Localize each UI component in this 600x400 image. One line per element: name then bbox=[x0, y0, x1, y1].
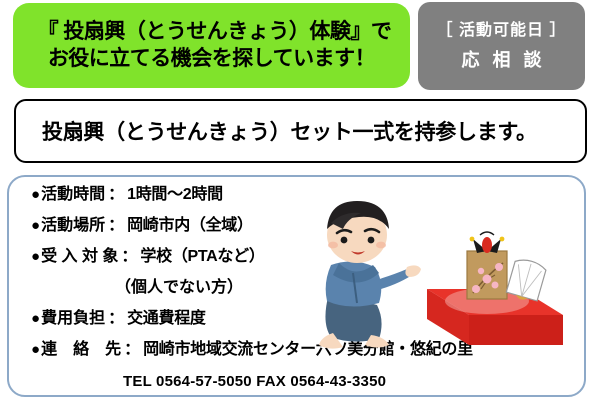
flyer-page: 『 投扇興（とうせんきょう）体験』で お役に立てる機会を探しています！ ［ 活動… bbox=[0, 0, 600, 400]
headline-line-2: お役に立てる機会を探しています！ bbox=[48, 46, 375, 72]
notice-text: 投扇興（とうせんきょう）セット一式を持参します。 bbox=[16, 116, 537, 146]
detail-label: 活動時間 bbox=[41, 187, 105, 203]
bullet-icon: ● bbox=[31, 311, 40, 326]
detail-colon: ： bbox=[124, 342, 140, 358]
detail-colon: ： bbox=[108, 187, 124, 203]
headline-banner: 『 投扇興（とうせんきょう）体験』で お役に立てる機会を探しています！ bbox=[13, 3, 410, 88]
detail-label: 受 入 対 象 bbox=[41, 249, 118, 265]
detail-value: 学校（PTAなど） bbox=[140, 249, 264, 265]
detail-colon: ： bbox=[108, 311, 124, 327]
bullet-icon: ● bbox=[31, 218, 40, 233]
detail-label: 活動場所 bbox=[41, 218, 105, 234]
detail-value: 1時間～2時間 bbox=[127, 187, 223, 203]
bullet-icon: ● bbox=[31, 187, 40, 202]
boy-character-icon bbox=[319, 201, 421, 349]
details-panel: ● 活動時間 ： 1時間～2時間 ● 活動場所 ： 岡崎市内（全域） ● 受 入… bbox=[7, 175, 586, 397]
headline-line-1: 『 投扇興（とうせんきょう）体験』で bbox=[32, 19, 392, 45]
availability-value: 応 相 談 bbox=[457, 50, 545, 72]
availability-label: ［ 活動可能日 ］ bbox=[437, 21, 567, 40]
tousenkyou-illustration bbox=[309, 193, 579, 383]
bullet-icon: ● bbox=[31, 342, 40, 357]
detail-label: 費用負担 bbox=[41, 311, 105, 327]
detail-colon: ： bbox=[108, 218, 124, 234]
detail-value: 岡崎市内（全域） bbox=[127, 218, 253, 234]
availability-box: ［ 活動可能日 ］ 応 相 談 bbox=[418, 2, 585, 90]
tousenkyou-target-icon bbox=[467, 232, 507, 299]
notice-strip: 投扇興（とうせんきょう）セット一式を持参します。 bbox=[14, 99, 587, 163]
detail-label: 連 絡 先 bbox=[41, 342, 121, 358]
detail-colon: ： bbox=[121, 249, 137, 265]
bullet-icon: ● bbox=[31, 249, 40, 264]
detail-value: 交通費程度 bbox=[127, 311, 206, 327]
